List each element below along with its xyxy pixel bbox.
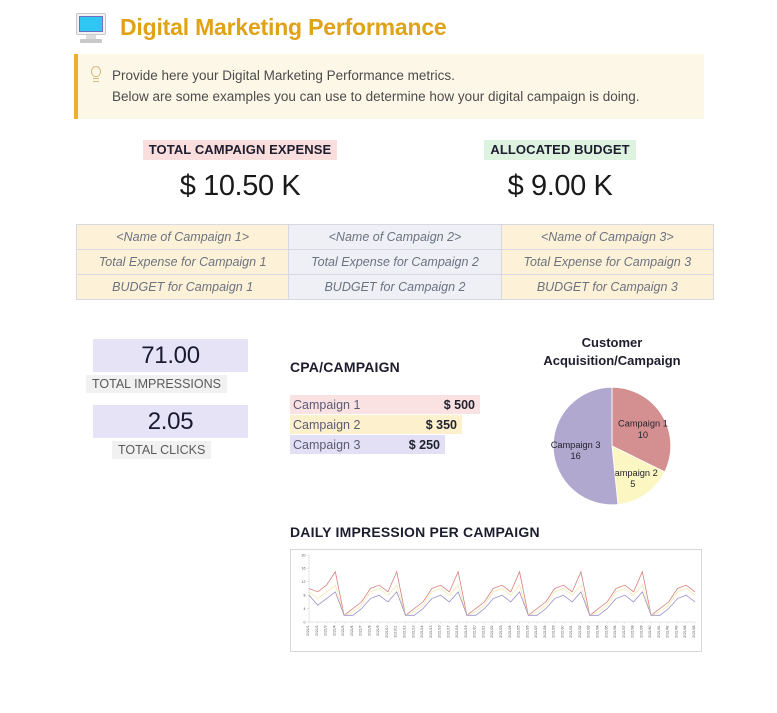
total-campaign-expense-block: TOTAL CAMPAIGN EXPENSE $ 10.50 K xyxy=(90,140,390,203)
x-tick-label: 2021/5 xyxy=(341,625,345,635)
lightbulb-icon xyxy=(90,66,102,84)
x-tick-label: 2021/8 xyxy=(367,625,371,635)
x-tick-label: 2021/42 xyxy=(666,625,670,637)
y-tick-label: 12 xyxy=(302,580,306,584)
x-tick-label: 2021/23 xyxy=(499,625,503,637)
total-campaign-expense-label: TOTAL CAMPAIGN EXPENSE xyxy=(143,140,338,160)
x-tick-label: 2021/9 xyxy=(376,625,380,635)
kpi-total-clicks-label: TOTAL CLICKS xyxy=(112,441,211,459)
x-tick-label: 2021/22 xyxy=(490,625,494,637)
table-row: <Name of Campaign 1> <Name of Campaign 2… xyxy=(77,225,714,250)
campaign-2-expense[interactable]: Total Expense for Campaign 2 xyxy=(289,250,501,275)
banner-line-1: Provide here your Digital Marketing Perf… xyxy=(112,65,640,86)
x-tick-label: 2021/10 xyxy=(385,625,389,637)
page-title: Digital Marketing Performance xyxy=(120,14,447,41)
x-tick-label: 2021/41 xyxy=(657,625,661,637)
pie-slice-value-3: 16 xyxy=(570,451,580,461)
cpa-row-campaign-1-amount: $ 500 xyxy=(444,398,475,412)
y-tick-label: 4 xyxy=(304,607,306,611)
kpi-total-impressions: 71.00 TOTAL IMPRESSIONS xyxy=(93,339,248,393)
line-series-1 xyxy=(309,572,695,616)
cpa-row-campaign-1-label: Campaign 1 xyxy=(293,398,360,412)
cpa-campaign-title: CPA/CAMPAIGN xyxy=(290,359,490,375)
x-tick-label: 2021/43 xyxy=(674,625,678,637)
x-tick-label: 2021/27 xyxy=(534,625,538,637)
x-tick-label: 2021/45 xyxy=(692,625,696,637)
x-tick-label: 2021/30 xyxy=(560,625,564,637)
page-header: Digital Marketing Performance xyxy=(0,0,777,44)
daily-impression-panel: DAILY IMPRESSION PER CAMPAIGN 0481216202… xyxy=(290,524,710,652)
line-series-2 xyxy=(309,585,695,615)
allocated-budget-label: ALLOCATED BUDGET xyxy=(484,140,635,160)
kpi-total-clicks-value: 2.05 xyxy=(93,405,248,438)
kpi-total-impressions-value: 71.00 xyxy=(93,339,248,372)
pie-title-line-2: Acquisition/Campaign xyxy=(512,352,712,370)
campaign-2-name[interactable]: <Name of Campaign 2> xyxy=(289,225,501,250)
x-tick-label: 2021/21 xyxy=(481,625,485,637)
cpa-row-campaign-2: Campaign 2 $ 350 xyxy=(290,415,462,434)
x-tick-label: 2021/11 xyxy=(394,625,398,637)
cpa-row-campaign-2-label: Campaign 2 xyxy=(293,418,360,432)
x-tick-label: 2021/34 xyxy=(596,625,600,637)
cpa-row-campaign-3: Campaign 3 $ 250 xyxy=(290,435,445,454)
mid-section: 71.00 TOTAL IMPRESSIONS 2.05 TOTAL CLICK… xyxy=(0,334,777,524)
monitor-icon xyxy=(74,10,108,44)
cpa-row-campaign-2-amount: $ 350 xyxy=(426,418,457,432)
cpa-campaign-panel: CPA/CAMPAIGN Campaign 1 $ 500 Campaign 2… xyxy=(290,359,490,455)
x-tick-label: 2021/16 xyxy=(438,625,442,637)
x-tick-label: 2021/6 xyxy=(350,625,354,635)
pie-slice-label-3: Campaign 3 xyxy=(551,440,601,450)
x-tick-label: 2021/17 xyxy=(446,625,450,637)
cpa-rows: Campaign 1 $ 500 Campaign 2 $ 350 Campai… xyxy=(290,395,490,454)
cpa-row-campaign-1: Campaign 1 $ 500 xyxy=(290,395,480,414)
x-tick-label: 2021/4 xyxy=(332,625,336,635)
campaign-3-budget[interactable]: BUDGET for Campaign 3 xyxy=(501,275,713,300)
daily-impression-line-chart: 0481216202021/12021/22021/32021/42021/52… xyxy=(291,550,701,651)
x-tick-label: 2021/32 xyxy=(578,625,582,637)
campaign-table: <Name of Campaign 1> <Name of Campaign 2… xyxy=(76,224,714,300)
cpa-row-campaign-3-label: Campaign 3 xyxy=(293,438,360,452)
kpi-total-impressions-label: TOTAL IMPRESSIONS xyxy=(86,375,227,393)
campaign-3-expense[interactable]: Total Expense for Campaign 3 xyxy=(501,250,713,275)
table-row: Total Expense for Campaign 1 Total Expen… xyxy=(77,250,714,275)
x-tick-label: 2021/12 xyxy=(403,625,407,637)
info-banner: Provide here your Digital Marketing Perf… xyxy=(74,54,704,119)
campaign-3-name[interactable]: <Name of Campaign 3> xyxy=(501,225,713,250)
campaign-1-expense[interactable]: Total Expense for Campaign 1 xyxy=(77,250,289,275)
daily-impression-title: DAILY IMPRESSION PER CAMPAIGN xyxy=(290,524,710,540)
customer-acquisition-pie-title: Customer Acquisition/Campaign xyxy=(512,334,712,370)
allocated-budget-block: ALLOCATED BUDGET $ 9.00 K xyxy=(420,140,700,203)
daily-impression-chart-box: 0481216202021/12021/22021/32021/42021/52… xyxy=(290,549,702,652)
x-tick-label: 2021/1 xyxy=(306,625,310,635)
x-tick-label: 2021/39 xyxy=(639,625,643,637)
table-row: BUDGET for Campaign 1 BUDGET for Campaig… xyxy=(77,275,714,300)
totals-row: TOTAL CAMPAIGN EXPENSE $ 10.50 K ALLOCAT… xyxy=(0,140,777,218)
pie-slice-value-2: 5 xyxy=(630,479,635,489)
y-tick-label: 0 xyxy=(304,620,306,624)
campaign-2-budget[interactable]: BUDGET for Campaign 2 xyxy=(289,275,501,300)
banner-line-2: Below are some examples you can use to d… xyxy=(112,86,640,107)
x-tick-label: 2021/18 xyxy=(455,625,459,637)
x-tick-label: 2021/44 xyxy=(683,625,687,637)
x-tick-label: 2021/13 xyxy=(411,625,415,637)
x-tick-label: 2021/14 xyxy=(420,625,424,637)
customer-acquisition-pie-panel: Customer Acquisition/Campaign Campaign 1… xyxy=(512,334,712,521)
x-tick-label: 2021/7 xyxy=(359,625,363,635)
x-tick-label: 2021/38 xyxy=(631,625,635,637)
x-tick-label: 2021/20 xyxy=(473,625,477,637)
x-tick-label: 2021/2 xyxy=(315,625,319,635)
pie-title-line-1: Customer xyxy=(512,334,712,352)
pie-slice-value-1: 10 xyxy=(638,430,648,440)
x-tick-label: 2021/40 xyxy=(648,625,652,637)
campaign-1-name[interactable]: <Name of Campaign 1> xyxy=(77,225,289,250)
x-tick-label: 2021/28 xyxy=(543,625,547,637)
x-tick-label: 2021/37 xyxy=(622,625,626,637)
customer-acquisition-pie-chart: Campaign 110Campaign 25Campaign 316 xyxy=(542,376,682,516)
total-campaign-expense-value: $ 10.50 K xyxy=(90,170,390,203)
cpa-row-campaign-3-amount: $ 250 xyxy=(409,438,440,452)
x-tick-label: 2021/29 xyxy=(552,625,556,637)
allocated-budget-value: $ 9.00 K xyxy=(420,170,700,203)
x-tick-label: 2021/24 xyxy=(508,625,512,637)
line-series-3 xyxy=(309,592,695,615)
x-tick-label: 2021/19 xyxy=(464,625,468,637)
x-tick-label: 2021/31 xyxy=(569,625,573,637)
y-tick-label: 20 xyxy=(302,553,306,557)
y-tick-label: 8 xyxy=(304,594,306,598)
pie-slice-label-1: Campaign 1 xyxy=(618,419,668,429)
x-tick-label: 2021/36 xyxy=(613,625,617,637)
x-tick-label: 2021/3 xyxy=(324,625,328,635)
x-tick-label: 2021/26 xyxy=(525,625,529,637)
x-tick-label: 2021/33 xyxy=(587,625,591,637)
kpi-total-clicks: 2.05 TOTAL CLICKS xyxy=(93,405,248,459)
campaign-1-budget[interactable]: BUDGET for Campaign 1 xyxy=(77,275,289,300)
x-tick-label: 2021/35 xyxy=(604,625,608,637)
banner-text: Provide here your Digital Marketing Perf… xyxy=(112,65,640,107)
x-tick-label: 2021/25 xyxy=(517,625,521,637)
x-tick-label: 2021/15 xyxy=(429,625,433,637)
y-tick-label: 16 xyxy=(302,567,306,571)
